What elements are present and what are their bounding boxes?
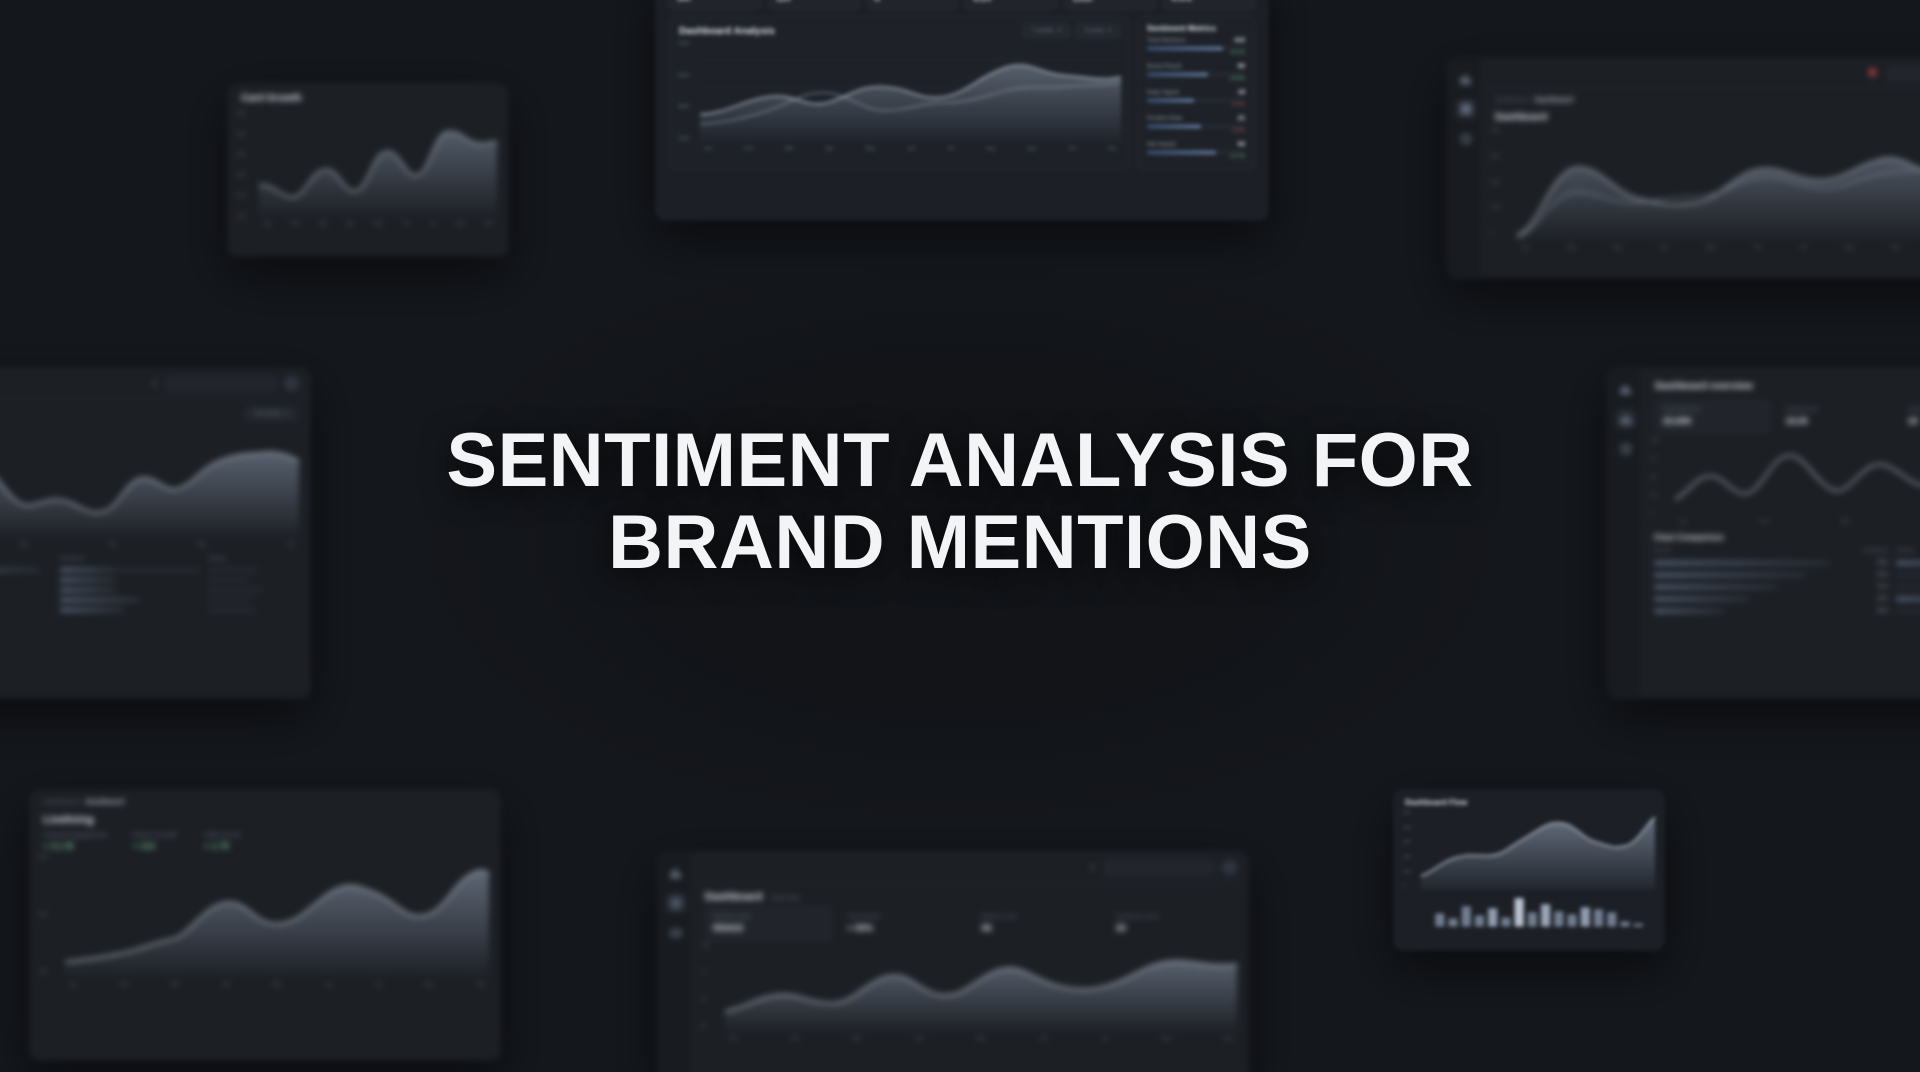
y-axis-labels: 7000 5000 3000 1000 [678, 42, 689, 142]
y-axis-labels: 400 300 200 100 0 [1491, 129, 1499, 237]
card-top-right[interactable]: Sentiment › Dashboard Dashboard 400 300 … [1448, 58, 1920, 278]
card-bottom-left[interactable]: Dashboard › Dashboard Liveliving Overall… [30, 790, 500, 1060]
analysis-title: Dashboard Analysis [679, 26, 775, 37]
table-row[interactable]: 42% [1654, 596, 1920, 602]
top-bar: ⇪ [0, 369, 309, 399]
card-bottom-center[interactable]: ⇪ Dashboard Overview Mentions total 0534… [658, 852, 1248, 1072]
card-top-left-chart: 400 300 250 200 150 110 Jan Feb M [229, 108, 507, 231]
stat-tile[interactable]: Mentions total 053415 [705, 907, 832, 940]
x-axis-labels: Jan Feb Mar Apr May Jun Jul Aug Sep [239, 219, 497, 227]
y-axis-labels: 500 400 300 200 100 0 [1403, 811, 1411, 889]
table-row[interactable]: 31% [1654, 584, 1920, 590]
stat-tile: Overall Engagement + 3.1 M [43, 832, 107, 851]
stat-tile[interactable]: Sentiment count 33 [1108, 907, 1235, 940]
stat-tile: Reach Growth + 113 [133, 832, 178, 851]
stat-tiles: Total Mentions 347 Conversations 114 Eng… [657, 0, 1267, 16]
sidebar-item-messages[interactable] [666, 923, 686, 943]
card-bottom-left-title: Liveliving [31, 806, 499, 830]
share-icon[interactable]: ⇪ [1089, 863, 1096, 872]
breadcrumb: Sentiment › Dashboard [1483, 89, 1920, 104]
sidebar-item-info[interactable] [666, 893, 686, 913]
area-chart-svg [1421, 811, 1655, 890]
card-top-right-title: Dashboard [1483, 104, 1920, 127]
table-row[interactable] [0, 588, 298, 592]
filter-series-button[interactable]: 4 series ▾ [1076, 24, 1120, 38]
stat-tile[interactable]: Weekly count 06 [974, 907, 1101, 940]
sidebar-rail [1449, 59, 1483, 277]
x-axis-labels: Jan Feb Mar Apr May Jun Jul Aug Sep [703, 1034, 1237, 1042]
avatar[interactable] [284, 376, 299, 391]
area-chart-svg [700, 42, 1121, 144]
search-input[interactable] [1887, 67, 1920, 81]
metric-row[interactable]: Net Impact 94 +3.7% [1147, 141, 1245, 160]
table-row[interactable] [0, 598, 298, 602]
stat-tile[interactable]: Total Growth + 00% [839, 907, 966, 940]
filter-month-button[interactable]: This Month ▾ [245, 407, 297, 421]
stat-tile: Index Score + 1.78 [204, 832, 241, 851]
area-chart-svg [259, 114, 497, 219]
sidebar-rail [659, 853, 693, 1072]
table-row[interactable] [0, 608, 298, 612]
stat-tile[interactable]: Engagement 8 [867, 0, 959, 10]
y-axis-labels: 400 300 250 200 150 110 [237, 112, 245, 220]
filter-months-button[interactable]: 7 months ▾ [1023, 24, 1070, 38]
y-axis-labels: 100 75 50 25 [701, 944, 709, 1030]
card-bottom-center-title: Dashboard [705, 891, 762, 903]
logo-bars-icon [1616, 379, 1636, 399]
stat-tile[interactable]: Reach 1310 [1064, 0, 1156, 10]
card-mid-right-title: Dashboard overview [1643, 369, 1920, 396]
area-chart-svg [1517, 129, 1920, 243]
chevron-down-icon: ▾ [285, 411, 288, 417]
page-title: SENTIMENT ANALYSIS FOR BRAND MENTIONS [0, 420, 1920, 584]
chevron-down-icon: ▾ [1108, 28, 1111, 34]
notification-bell-icon[interactable] [1866, 67, 1879, 80]
avatar[interactable] [1222, 860, 1237, 875]
hero-stage: Card Growth 400 300 250 200 150 110 [0, 0, 1920, 1072]
metric-row[interactable]: Daily Signal 19 -4.2% [1147, 89, 1245, 108]
sidebar-item-reports[interactable] [1456, 129, 1476, 149]
search-input[interactable] [166, 377, 276, 391]
bar-chart-svg [1421, 892, 1655, 927]
area-chart-svg [65, 855, 489, 980]
y-axis-labels: 300 200 100 [39, 855, 47, 975]
x-axis-labels: Jan Feb Mar Apr May Jun Jul Aug Sep Oct … [678, 144, 1121, 152]
logo-bars-icon [1456, 69, 1476, 89]
stat-tile[interactable]: Sentiment 8.24 [965, 0, 1057, 10]
table-row[interactable]: 39% [1654, 608, 1920, 614]
chevron-down-icon: ▾ [1058, 28, 1061, 34]
tab-overview[interactable]: Overview [770, 895, 799, 902]
title-line-1: SENTIMENT ANALYSIS FOR [446, 418, 1473, 503]
title-line-2: BRAND MENTIONS [0, 502, 1920, 584]
stat-tile[interactable]: Conversations 114 [768, 0, 860, 10]
area-chart-svg [725, 944, 1237, 1034]
x-axis-labels: Jan Feb Mar Apr May Jun Jul Aug Sep Oct … [1493, 243, 1920, 251]
stat-tile[interactable]: Total Mentions 347 [669, 0, 761, 10]
metric-row[interactable]: Brand Reach 90 +8.8% [1147, 63, 1245, 82]
x-axis-labels: Jan Feb Mar Apr May Jun Jul Aug Sep [41, 980, 489, 988]
metric-row[interactable]: Positive Rate 21 -3.2% [1147, 115, 1245, 134]
metrics-title: Sentiment Metrics [1138, 17, 1254, 35]
share-icon[interactable]: ⇪ [151, 379, 158, 388]
card-top-left-title: Card Growth [229, 85, 507, 108]
top-bar: ⇪ [693, 853, 1247, 883]
logo-bars-icon [666, 863, 686, 883]
stat-tile[interactable]: Conversion 4.4% [1163, 0, 1255, 10]
card-top-left[interactable]: Card Growth 400 300 250 200 150 110 [228, 84, 508, 256]
card-bottom-right[interactable]: Dashboard Flow 500 400 300 200 100 0 [1394, 790, 1664, 950]
search-input[interactable] [1104, 861, 1214, 875]
card-top-center[interactable]: Total Mentions 347 Conversations 114 Eng… [656, 0, 1268, 220]
top-bar [1483, 59, 1920, 89]
metric-row[interactable]: Total Mentions 410 +9.1% [1147, 37, 1245, 56]
breadcrumb: Dashboard › Dashboard [31, 791, 499, 806]
sidebar-item-dashboard[interactable] [1456, 99, 1476, 119]
card-bottom-right-title: Dashboard Flow [1395, 791, 1663, 809]
sentiment-metrics-panel: Sentiment Metrics Total Mentions 410 +9.… [1137, 16, 1255, 170]
